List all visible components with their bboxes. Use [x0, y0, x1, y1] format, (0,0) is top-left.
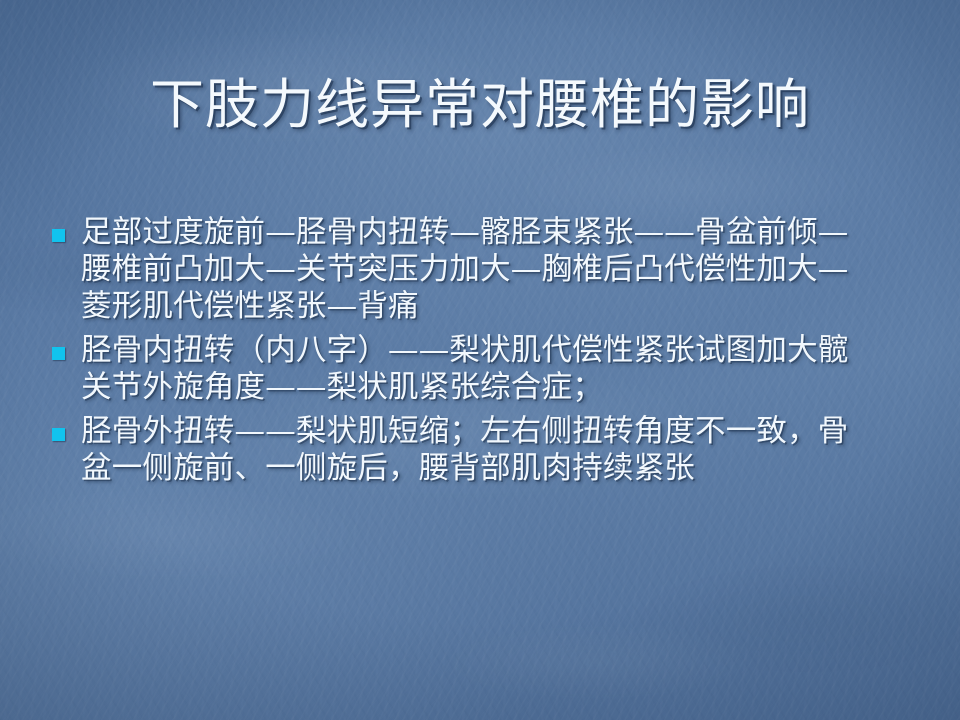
- slide-body: 足部过度旋前—胫骨内扭转—髂胫束紧张——骨盆前倾— 腰椎前凸加大—关节突压力加大…: [52, 214, 924, 494]
- bullet-line: 足部过度旋前—胫骨内扭转—髂胫束紧张——骨盆前倾—: [81, 214, 924, 251]
- bullet-text: 胫骨内扭转（内八字）——梨状肌代偿性紧张试图加大髋 关节外旋角度——梨状肌紧张综…: [81, 332, 924, 406]
- slide-title: 下肢力线异常对腰椎的影响: [0, 76, 960, 134]
- list-item: 胫骨内扭转（内八字）——梨状肌代偿性紧张试图加大髋 关节外旋角度——梨状肌紧张综…: [52, 332, 924, 406]
- bullet-line: 关节外旋角度——梨状肌紧张综合症；: [81, 369, 924, 406]
- bullet-text: 足部过度旋前—胫骨内扭转—髂胫束紧张——骨盆前倾— 腰椎前凸加大—关节突压力加大…: [81, 214, 924, 325]
- square-bullet-icon: [52, 428, 65, 441]
- bullet-line: 腰椎前凸加大—关节突压力加大—胸椎后凸代偿性加大—: [81, 251, 924, 288]
- square-bullet-icon: [52, 347, 65, 360]
- bullet-line: 盆一侧旋前、一侧旋后，腰背部肌肉持续紧张: [81, 450, 924, 487]
- list-item: 胫骨外扭转——梨状肌短缩；左右侧扭转角度不一致，骨 盆一侧旋前、一侧旋后，腰背部…: [52, 413, 924, 487]
- square-bullet-icon: [52, 229, 65, 242]
- list-item: 足部过度旋前—胫骨内扭转—髂胫束紧张——骨盆前倾— 腰椎前凸加大—关节突压力加大…: [52, 214, 924, 325]
- presentation-slide: 下肢力线异常对腰椎的影响 足部过度旋前—胫骨内扭转—髂胫束紧张——骨盆前倾— 腰…: [0, 0, 960, 720]
- bullet-line: 胫骨外扭转——梨状肌短缩；左右侧扭转角度不一致，骨: [81, 413, 924, 450]
- bullet-line: 菱形肌代偿性紧张—背痛: [81, 288, 924, 325]
- bullet-text: 胫骨外扭转——梨状肌短缩；左右侧扭转角度不一致，骨 盆一侧旋前、一侧旋后，腰背部…: [81, 413, 924, 487]
- bullet-line: 胫骨内扭转（内八字）——梨状肌代偿性紧张试图加大髋: [81, 332, 924, 369]
